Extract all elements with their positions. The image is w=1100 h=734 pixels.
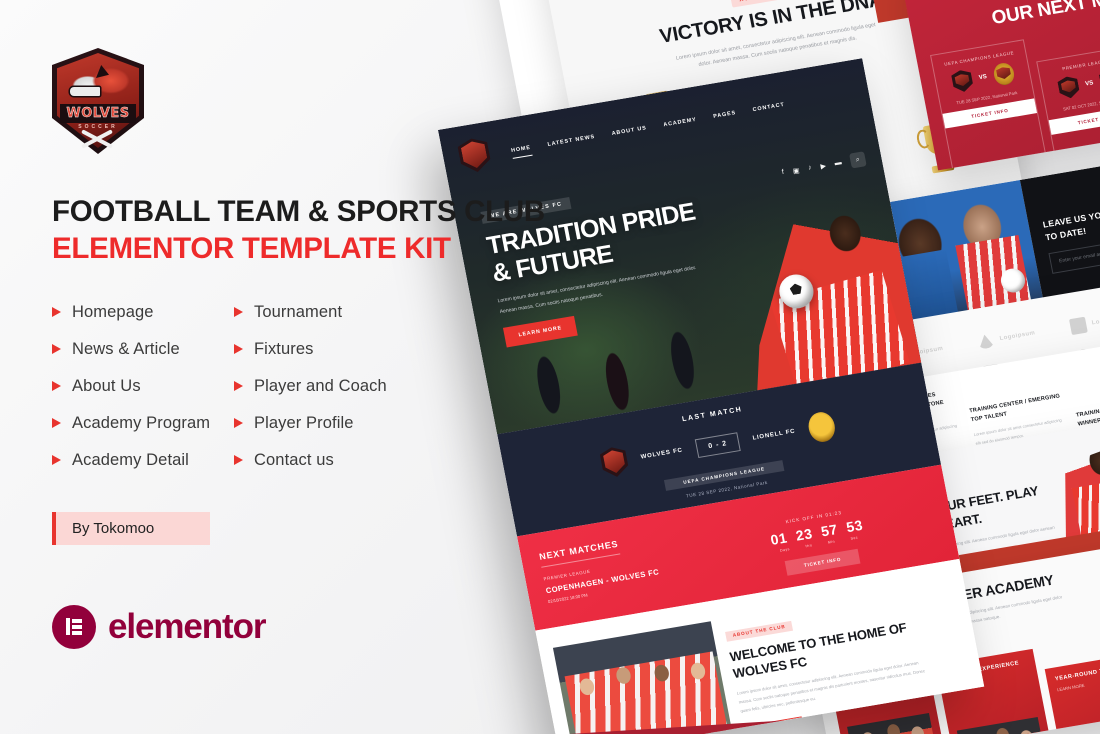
feature-label: Academy Program <box>72 414 210 433</box>
feature-item-player-profile: Player Profile <box>234 414 422 433</box>
vs-label: VS <box>1085 80 1094 87</box>
countdown-days: 01 <box>769 530 788 548</box>
author-badge: By Tokomoo <box>52 512 210 545</box>
sponsor-name: Logoipsum <box>999 330 1036 342</box>
soccer-ball-icon <box>999 267 1027 295</box>
feature-item-academy-program: Academy Program <box>52 414 234 433</box>
triangle-bullet-icon <box>234 418 243 428</box>
sponsor-logo: Logoipsum <box>977 321 1062 351</box>
tiktok-icon[interactable]: ♪ <box>808 164 813 171</box>
academy-card[interactable]: YEAR-ROUND TRAINING LEARN MORE <box>1045 652 1100 734</box>
triangle-bullet-icon <box>52 418 61 428</box>
academy-card-photo <box>1066 720 1100 734</box>
crest-name: WOLVES <box>66 106 129 121</box>
feature-item-player-and-coach: Player and Coach <box>234 377 422 396</box>
countdown-seconds: 53 <box>845 517 864 535</box>
email-placeholder: Enter your email address <box>1059 250 1100 265</box>
elementor-logo: elementor <box>52 605 470 649</box>
match-score: 0 - 2 <box>695 432 741 458</box>
feature-item-academy-detail: Academy Detail <box>52 451 234 470</box>
nav-item-contact[interactable]: CONTACT <box>752 102 785 113</box>
countdown-seconds-label: Sec <box>850 536 858 541</box>
match-card[interactable]: PREMIER LEAGUE VS SAT 02 OCT 2022, Stadi… <box>1037 46 1100 160</box>
feature-label: Homepage <box>72 303 154 322</box>
nav-item-latest-news[interactable]: LATEST NEWS <box>547 134 596 148</box>
feature-list: Homepage Tournament News & Article Fixtu… <box>52 303 422 470</box>
newsletter-title: LEAVE US YOUR EMAIL TO STAY UP TO DATE! <box>1042 193 1100 245</box>
sponsor-name: Logoipsum <box>1091 315 1100 327</box>
twitter-icon[interactable]: ▶ <box>820 161 827 170</box>
page-title: FOOTBALL TEAM & SPORTS CLUB <box>52 194 470 230</box>
nav-item-academy[interactable]: ACADEMY <box>663 117 697 128</box>
team-photo <box>553 621 733 734</box>
countdown-minutes-label: Min <box>828 539 836 544</box>
countdown-minutes: 57 <box>820 521 839 539</box>
wolves-crest-logo-icon: WOLVES SOCCER <box>52 48 144 154</box>
feature-label: Player Profile <box>254 414 354 433</box>
feature-label: Contact us <box>254 451 334 470</box>
sponsor-glyph-icon <box>977 333 995 349</box>
search-icon[interactable]: ⌕ <box>849 151 867 168</box>
academy-card-photo <box>847 713 940 734</box>
nav-item-pages[interactable]: PAGES <box>713 110 737 120</box>
crest-subtitle: SOCCER <box>52 124 144 130</box>
feature-item-homepage: Homepage <box>52 303 234 322</box>
feature-item-news-article: News & Article <box>52 340 234 359</box>
about-tag: ABOUT THE CLUB <box>725 620 793 641</box>
sponsor-glyph-icon <box>1069 317 1088 335</box>
countdown-hours-label: Hrs <box>805 543 812 548</box>
feature-label: Academy Detail <box>72 451 189 470</box>
home-team-name: WOLVES FC <box>640 448 683 461</box>
nav-item-home[interactable]: HOME <box>511 145 532 154</box>
triangle-bullet-icon <box>234 344 243 354</box>
countdown-days-label: Days <box>780 547 790 553</box>
triangle-bullet-icon <box>52 455 61 465</box>
triangle-bullet-icon <box>234 307 243 317</box>
crossed-bones-icon <box>80 132 114 146</box>
instagram-icon[interactable]: ▣ <box>792 166 800 175</box>
team-badge-icon <box>1057 75 1081 100</box>
triangle-bullet-icon <box>52 307 61 317</box>
lionell-badge-icon <box>806 410 837 444</box>
feature-label: Player and Coach <box>254 377 387 396</box>
wolves-badge-icon <box>599 445 630 479</box>
away-team-name: LIONELL FC <box>752 429 796 442</box>
wolf-head-icon <box>66 61 130 105</box>
ticket-info-button[interactable]: TICKET INFO <box>785 549 861 576</box>
youtube-icon[interactable]: ▬ <box>834 159 842 167</box>
academy-card-photo <box>956 716 1049 734</box>
team-badge-icon <box>992 62 1016 87</box>
feature-item-contact-us: Contact us <box>234 451 422 470</box>
feature-label: News & Article <box>72 340 180 359</box>
author-label: By Tokomoo <box>56 520 154 537</box>
triangle-bullet-icon <box>52 381 61 391</box>
team-badge-icon <box>950 69 974 94</box>
vs-label: VS <box>978 74 987 81</box>
page-subtitle: ELEMENTOR TEMPLATE KIT <box>52 231 470 267</box>
feature-label: About Us <box>72 377 141 396</box>
elementor-mark-icon <box>52 605 96 649</box>
nav-item-about-us[interactable]: ABOUT US <box>611 125 647 137</box>
feature-label: Fixtures <box>254 340 313 359</box>
triangle-bullet-icon <box>234 455 243 465</box>
feature-item-about-us: About Us <box>52 377 234 396</box>
sponsor-logo: Logoipsum <box>1069 305 1100 335</box>
elementor-wordmark: elementor <box>108 607 265 647</box>
countdown-hours: 23 <box>794 525 813 543</box>
match-card[interactable]: UEFA CHAMPIONS LEAGUE VS TUE 28 SEP 2022… <box>930 39 1048 170</box>
facebook-icon[interactable]: f <box>781 169 784 176</box>
triangle-bullet-icon <box>234 381 243 391</box>
feature-label: Tournament <box>254 303 342 322</box>
triangle-bullet-icon <box>52 344 61 354</box>
feature-item-fixtures: Fixtures <box>234 340 422 359</box>
promo-panel: WOLVES SOCCER FOOTBALL TEAM & SPORTS CLU… <box>0 0 470 734</box>
academy-card-title: YEAR-ROUND TRAINING <box>1055 662 1100 682</box>
feature-item-tournament: Tournament <box>234 303 422 322</box>
next-matches-title: NEXT MATCHES <box>538 539 620 568</box>
